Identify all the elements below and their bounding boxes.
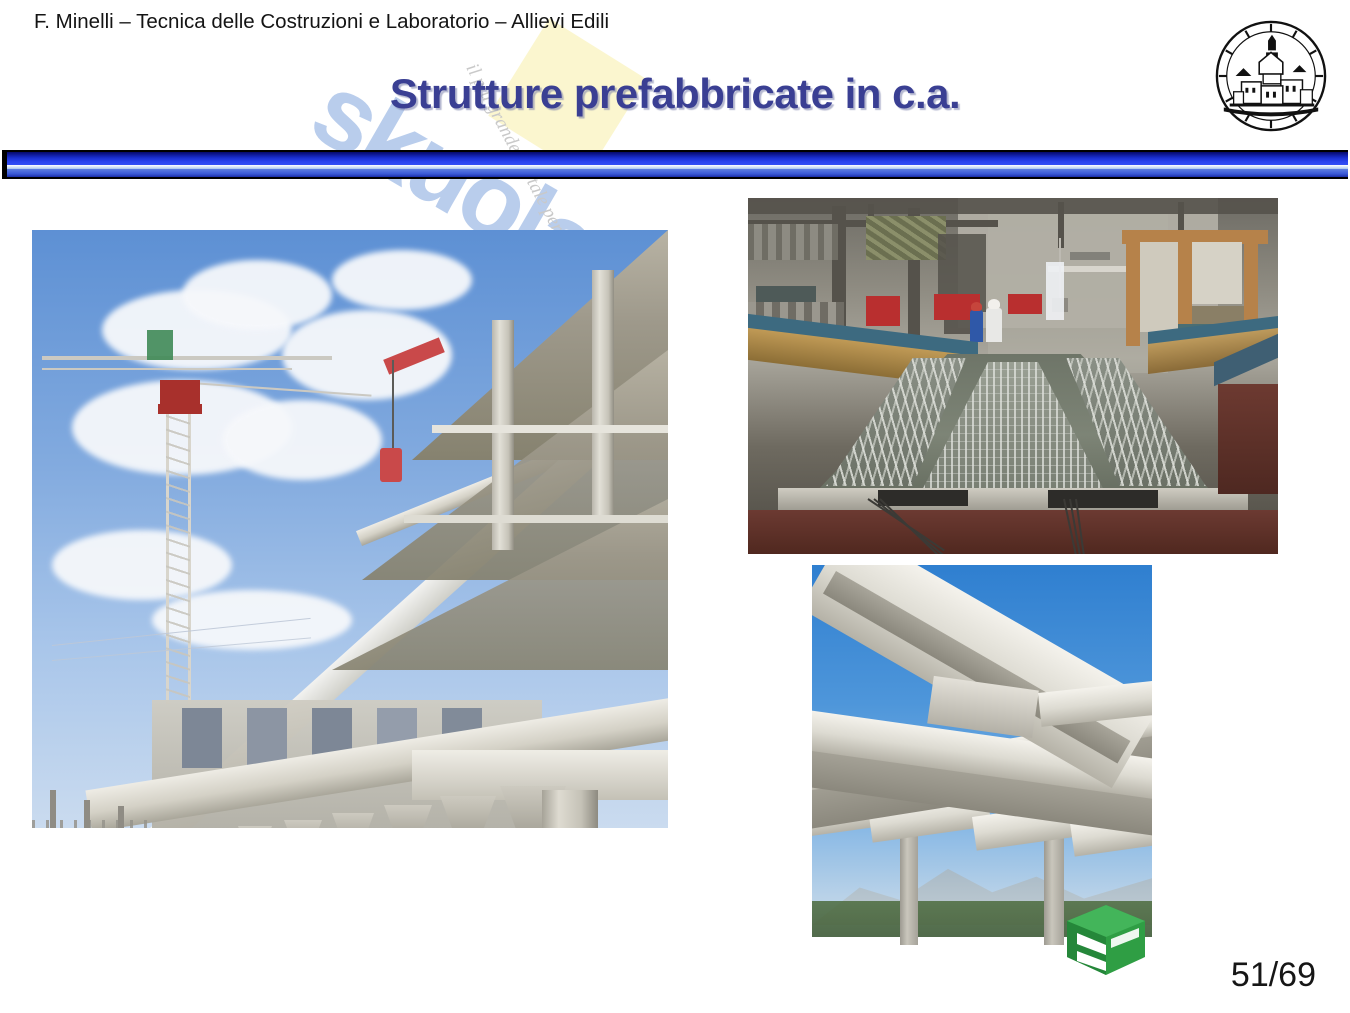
corbel <box>238 826 272 828</box>
upper-slab-edge <box>404 515 668 523</box>
crane-lattice <box>166 414 190 704</box>
machine-panel <box>1140 242 1178 332</box>
mould-front-edge <box>778 488 1248 512</box>
wall-sign <box>1070 252 1110 260</box>
window-light <box>1046 262 1064 320</box>
divider-lower-band <box>2 169 1348 177</box>
worker-helmet <box>971 302 982 311</box>
image-precast-roof-beams-underside <box>812 565 1152 960</box>
casting-bed-base <box>748 510 1278 554</box>
crane-trolley <box>147 330 173 360</box>
foreground-precast-column <box>542 790 598 828</box>
crane-cabin <box>160 380 200 404</box>
divider-left-cap <box>2 150 7 179</box>
divider-bottom-rule <box>2 177 1348 179</box>
corbel <box>284 820 322 828</box>
green-cube-logo <box>1063 903 1149 977</box>
slide-header-text: F. Minelli – Tecnica delle Costruzioni e… <box>34 10 609 34</box>
cloud <box>52 530 232 600</box>
worker <box>986 308 1002 342</box>
crane-hook <box>380 448 402 482</box>
page-title: Strutture prefabbricate in c.a. <box>0 70 1350 118</box>
scaffold-post <box>118 806 124 828</box>
red-machine <box>866 296 900 326</box>
cloud <box>222 400 382 480</box>
worker <box>970 310 983 342</box>
scaffold-post <box>84 800 90 828</box>
red-machine <box>1008 294 1042 314</box>
divider-blue-band <box>2 152 1348 165</box>
page-number: 51/69 <box>1231 956 1316 995</box>
upper-column <box>592 270 614 520</box>
steel-rail-web <box>1218 384 1278 494</box>
machine-panel <box>1192 242 1242 304</box>
crane-jib <box>42 356 332 360</box>
scaffold-post <box>50 790 56 828</box>
cloud <box>182 260 332 330</box>
ceiling-truss <box>748 198 1278 214</box>
title-divider-bar <box>2 150 1348 180</box>
overhead-platform <box>748 224 838 260</box>
end-plate <box>878 490 968 506</box>
frame-opening <box>182 708 222 768</box>
worker-helmet <box>988 299 1000 309</box>
crane-jib-lower <box>42 368 292 370</box>
image-precast-frame-construction-site <box>32 230 668 828</box>
cloud <box>332 250 472 310</box>
crane-slew-ring <box>158 404 202 414</box>
upper-slab-edge <box>432 425 668 433</box>
corbel <box>332 813 374 828</box>
university-seal-logo <box>1212 16 1330 136</box>
machine-frame-post <box>1126 238 1140 346</box>
catwalk-grating <box>866 216 946 260</box>
hoist-rope <box>392 360 394 450</box>
image-precast-plant-casting-bed <box>748 198 1278 554</box>
